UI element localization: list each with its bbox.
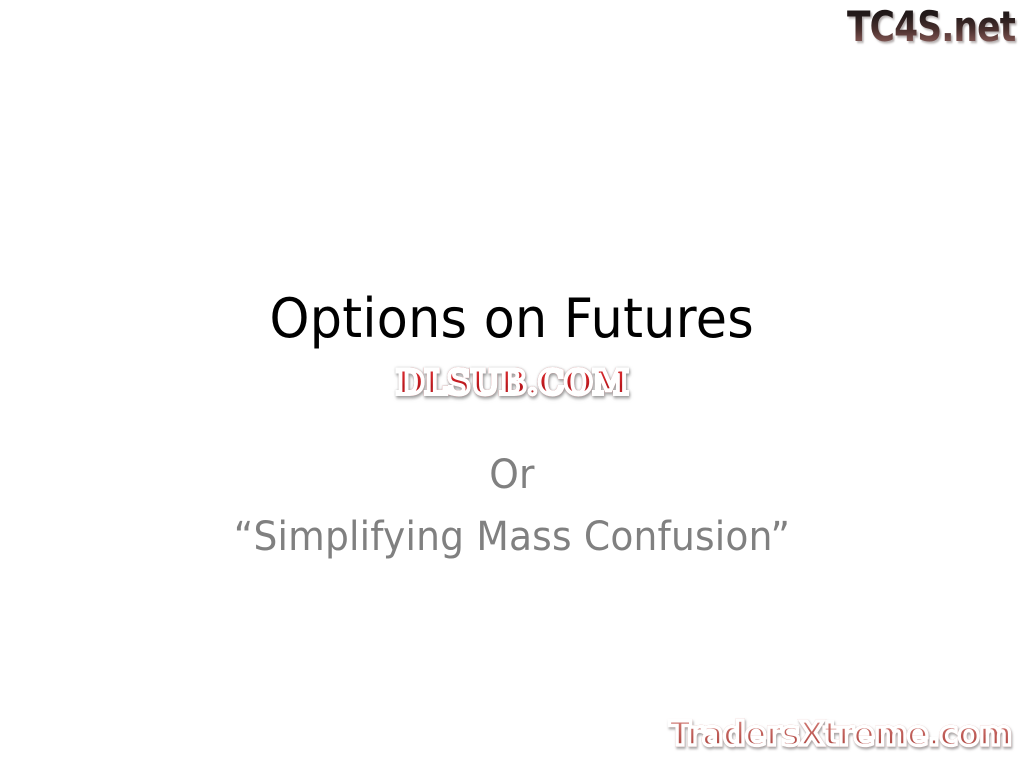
- subtitle-line-2: “Simplifying Mass Confusion”: [31, 506, 994, 568]
- slide-title-container: Options on Futures: [0, 288, 1024, 350]
- dlsub-watermark-logo: DLSUB.COM: [396, 362, 629, 404]
- dlsub-watermark-container: DLSUB.COM: [0, 362, 1024, 404]
- tc4s-watermark-logo: TC4S.net: [847, 1, 1015, 53]
- tradersxtreme-watermark-logo: TradersXtreme.com: [670, 714, 1012, 754]
- slide-subtitle-container: Or “Simplifying Mass Confusion”: [0, 444, 1024, 568]
- presentation-slide: TC4S.net Options on Futures DLSUB.COM Or…: [0, 0, 1024, 768]
- page-title: Options on Futures: [270, 288, 755, 350]
- subtitle-line-1: Or: [31, 444, 994, 506]
